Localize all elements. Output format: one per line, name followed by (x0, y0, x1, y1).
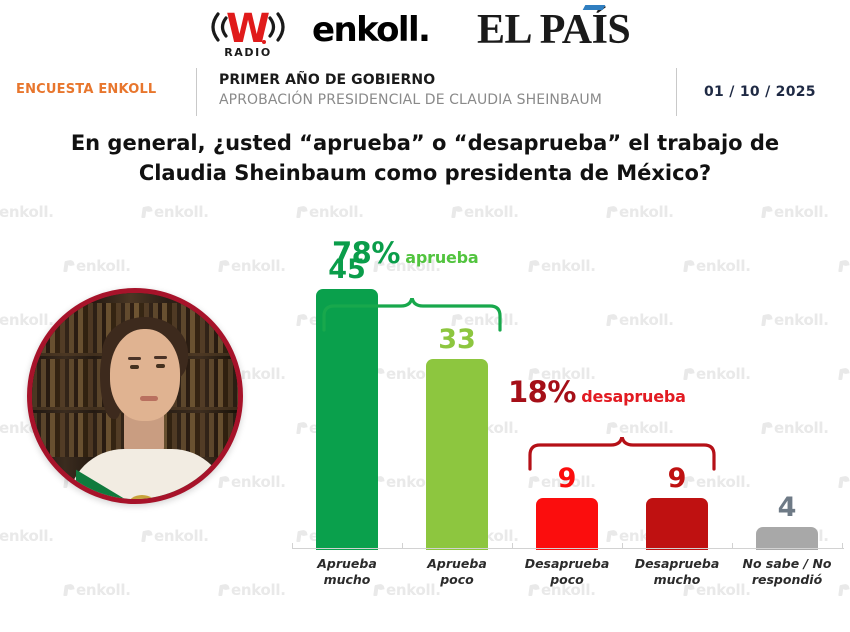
leaf-icon (218, 260, 229, 273)
category-label-line: mucho (288, 572, 406, 588)
watermark-text: enkoll. (309, 203, 364, 221)
watermark-text: enkoll. (231, 257, 286, 275)
watermark-text: enkoll. (774, 203, 829, 221)
watermark-text: enkoll. (231, 473, 286, 491)
leaf-icon (141, 530, 152, 543)
watermark-text: enkoll. (0, 527, 54, 545)
leaf-icon (141, 206, 152, 219)
category-label: Desapruebamucho (618, 556, 736, 588)
callout-percent: 78% (332, 236, 400, 270)
watermark-text: enkoll. (76, 581, 131, 599)
category-label-line: Aprueba (398, 556, 516, 572)
chart-baseline (292, 548, 844, 549)
callout-percent: 18% (508, 375, 576, 409)
question-text: En general, ¿usted “aprueba” o “desaprue… (40, 128, 810, 188)
brace-disapprove-icon (528, 437, 716, 471)
category-label: No sabe / Norespondió (728, 556, 846, 588)
portrait-brow (154, 356, 167, 359)
bar[interactable] (536, 498, 598, 550)
category-label-line: Desaprueba (508, 556, 626, 572)
axis-tick (292, 543, 293, 549)
watermark-enkoll: enkoll. (141, 527, 209, 545)
axis-tick (842, 543, 843, 549)
watermark-enkoll: enkoll. (606, 203, 674, 221)
watermark-text: enkoll. (231, 581, 286, 599)
category-label-line: respondió (728, 572, 846, 588)
leaf-icon (63, 260, 74, 273)
watermark-enkoll: enkoll. (63, 581, 131, 599)
bar-group: 45 (298, 230, 408, 550)
bar-value-label: 4 (738, 494, 836, 521)
callout-word: desaprueba (576, 387, 686, 406)
watermark-text: enkoll. (0, 203, 54, 221)
watermark-enkoll: enkoll. (218, 581, 286, 599)
watermark-text: enkoll. (464, 203, 519, 221)
watermark-enkoll: enkoll. (451, 203, 519, 221)
portrait-eye (156, 364, 165, 368)
watermark-enkoll: enkoll. (761, 203, 829, 221)
leaf-icon (761, 206, 772, 219)
watermark-enkoll: enkoll. (0, 527, 54, 545)
divider-left (196, 68, 197, 116)
leaf-icon (451, 206, 462, 219)
portrait-brow (128, 357, 141, 360)
portrait-photo (27, 288, 243, 504)
category-label-line: No sabe / No (728, 556, 846, 572)
axis-tick (622, 543, 623, 549)
el-pais-logo: EL PAÍS (477, 6, 630, 54)
watermark-enkoll: enkoll. (218, 257, 286, 275)
report-subtitle: APROBACIÓN PRESIDENCIAL DE CLAUDIA SHEIN… (219, 92, 602, 108)
category-label-line: poco (398, 572, 516, 588)
brand-label: ENCUESTA ENKOLL (16, 82, 156, 97)
bar[interactable] (426, 359, 488, 550)
portrait-lips (140, 396, 158, 401)
w-radio-logo: W RADIO (196, 6, 300, 58)
leaf-icon (606, 206, 617, 219)
w-radio-icon: W RADIO (196, 6, 300, 58)
approval-bar-chart: 4533994 ApruebamuchoApruebapocoDesaprueb… (290, 230, 846, 620)
axis-tick (402, 543, 403, 549)
callout-word: aprueba (400, 248, 479, 267)
watermark-text: enkoll. (619, 203, 674, 221)
enkoll-logo: enkoll. (312, 10, 429, 50)
leaf-icon (63, 584, 74, 597)
watermark-enkoll: enkoll. (63, 257, 131, 275)
subtitle-bar: ENCUESTA ENKOLL PRIMER AÑO DE GOBIERNO A… (0, 68, 850, 116)
watermark-text: enkoll. (154, 203, 209, 221)
portrait-face (110, 329, 180, 421)
watermark-text: enkoll. (76, 257, 131, 275)
category-label-line: Desaprueba (618, 556, 736, 572)
category-label-line: mucho (618, 572, 736, 588)
report-title: PRIMER AÑO DE GOBIERNO (219, 72, 435, 88)
category-label-line: Aprueba (288, 556, 406, 572)
leaf-icon (218, 584, 229, 597)
bar-group: 4 (738, 230, 848, 550)
el-pais-text: EL PAÍS (477, 7, 630, 53)
watermark-text: enkoll. (154, 527, 209, 545)
axis-tick (512, 543, 513, 549)
header-logos: W RADIO enkoll. EL PAÍS (0, 0, 850, 62)
axis-tick (732, 543, 733, 549)
bar[interactable] (646, 498, 708, 550)
callout-disapprove: 18% desaprueba (508, 375, 686, 409)
el-pais-accent (583, 5, 606, 10)
category-label-line: poco (508, 572, 626, 588)
leaf-icon (296, 206, 307, 219)
category-label: Desapruebapoco (508, 556, 626, 588)
category-label: Apruebapoco (398, 556, 516, 588)
watermark-enkoll: enkoll. (141, 203, 209, 221)
bar-group: 33 (408, 230, 518, 550)
svg-text:RADIO: RADIO (224, 46, 272, 58)
portrait-eye (130, 365, 139, 369)
watermark-enkoll: enkoll. (296, 203, 364, 221)
watermark-enkoll: enkoll. (0, 203, 54, 221)
category-label: Apruebamucho (288, 556, 406, 588)
survey-date: 01 / 10 / 2025 (704, 84, 816, 100)
divider-right (676, 68, 677, 116)
callout-approve: 78% aprueba (332, 236, 479, 270)
brace-approve-icon (322, 298, 502, 332)
bar[interactable] (756, 527, 818, 550)
